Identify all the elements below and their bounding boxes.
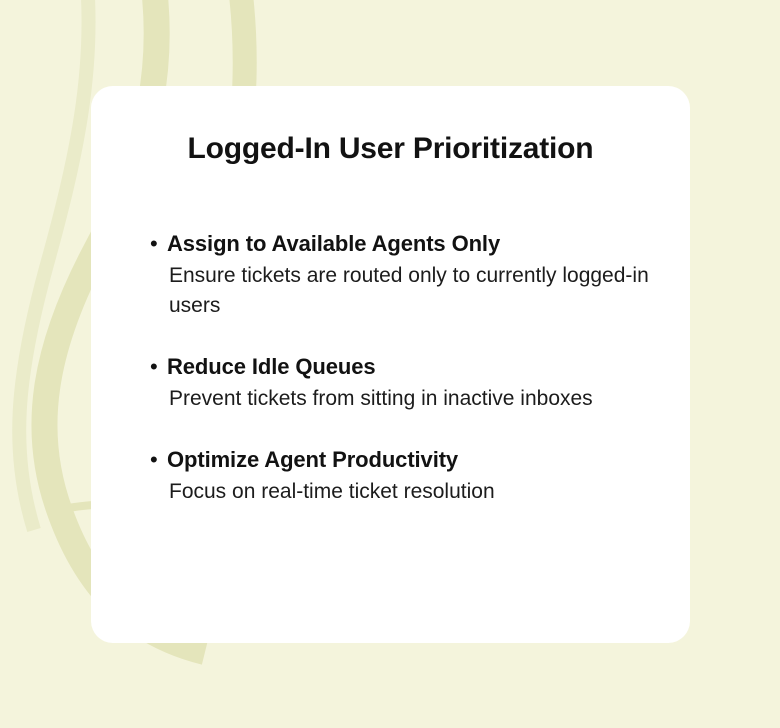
bullet-heading-row: • Assign to Available Agents Only (150, 229, 670, 259)
bullet-point-icon: • (150, 229, 167, 259)
list-item: • Reduce Idle Queues Prevent tickets fro… (150, 352, 670, 414)
page-title: Logged-In User Prioritization (91, 131, 690, 167)
bullet-description: Focus on real-time ticket resolution (169, 477, 669, 507)
bullet-point-icon: • (150, 352, 167, 382)
bullet-heading: Assign to Available Agents Only (167, 229, 670, 259)
list-item: • Assign to Available Agents Only Ensure… (150, 229, 670, 321)
bullet-point-icon: • (150, 445, 167, 475)
leaf-outline-curve-inner (19, 0, 88, 530)
bullet-list: • Assign to Available Agents Only Ensure… (150, 229, 670, 507)
bullet-description: Prevent tickets from sitting in inactive… (169, 384, 669, 414)
bullet-description: Ensure tickets are routed only to curren… (169, 261, 669, 321)
bullet-heading: Reduce Idle Queues (167, 352, 670, 382)
bullet-heading-row: • Reduce Idle Queues (150, 352, 670, 382)
bullet-heading: Optimize Agent Productivity (167, 445, 670, 475)
content-card: Logged-In User Prioritization • Assign t… (91, 86, 690, 643)
bullet-heading-row: • Optimize Agent Productivity (150, 445, 670, 475)
slide-canvas: Logged-In User Prioritization • Assign t… (0, 0, 780, 728)
list-item: • Optimize Agent Productivity Focus on r… (150, 445, 670, 507)
